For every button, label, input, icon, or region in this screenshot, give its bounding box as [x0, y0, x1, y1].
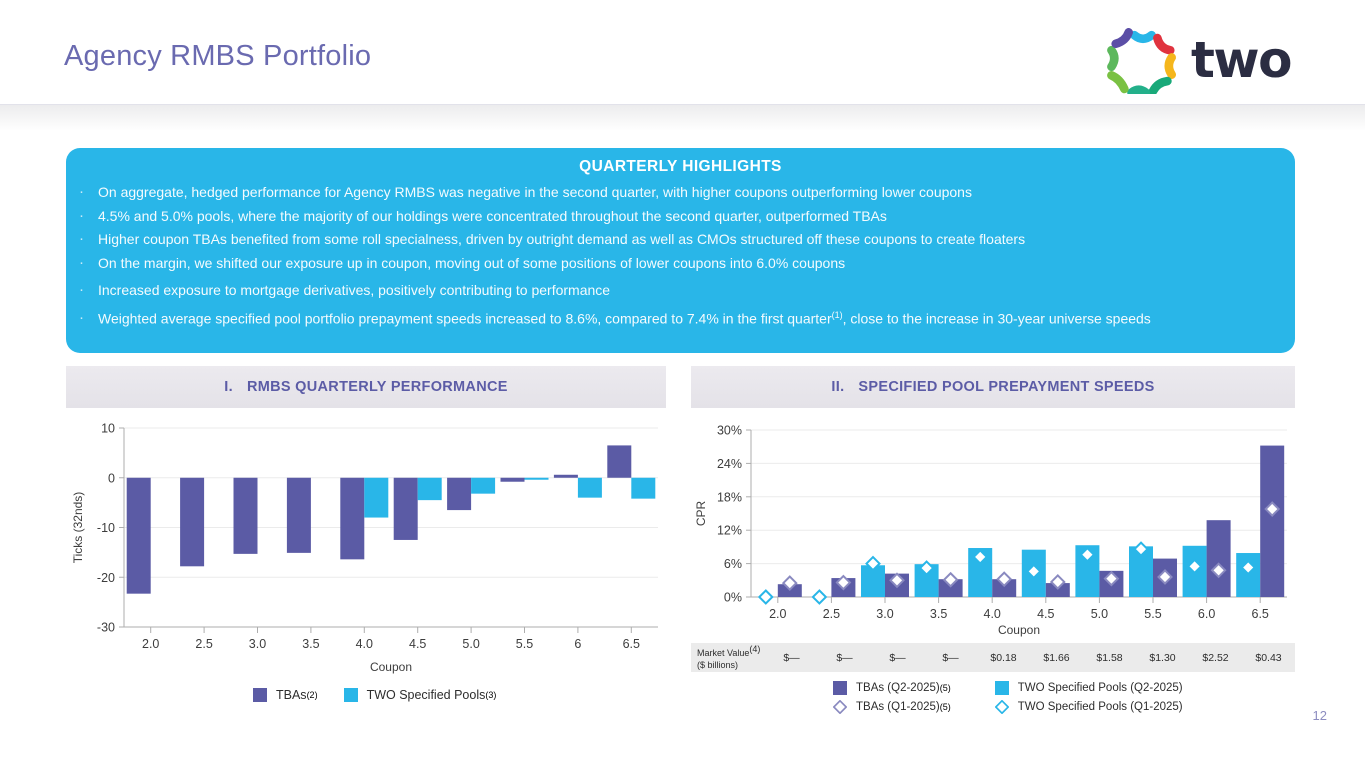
legend-swatch-icon — [344, 688, 358, 702]
highlight-text: On the margin, we shifted our exposure u… — [98, 255, 845, 271]
panel-left-title: RMBS QUARTERLY PERFORMANCE — [247, 379, 508, 395]
market-value-label: Market Value(4) ($ billions) — [691, 644, 765, 671]
x-tick-label: 2.0 — [142, 637, 159, 651]
diamond-two-specified-pools-q1-2025 — [759, 591, 772, 604]
highlight-text-cont: , close to the increase in 30-year unive… — [843, 310, 1151, 326]
x-tick-label: 2.0 — [769, 607, 786, 621]
legend-swatch-icon — [833, 681, 847, 695]
x-tick-label: 3.5 — [930, 607, 947, 621]
x-tick-label: 3.0 — [249, 637, 266, 651]
market-value-cell: $0.43 — [1242, 652, 1295, 664]
market-value-table: Market Value(4) ($ billions) $—$—$—$—$0.… — [691, 643, 1295, 672]
legend-footnote-ref: (5) — [940, 683, 951, 693]
market-value-label-line2: ($ billions) — [697, 660, 738, 670]
market-value-label-line1: Market Value — [697, 648, 749, 658]
highlights-title: QUARTERLY HIGHLIGHTS — [66, 148, 1295, 176]
market-value-cells: $—$—$—$—$0.18$1.66$1.58$1.30$2.52$0.43 — [765, 652, 1295, 664]
market-value-cell: $0.18 — [977, 652, 1030, 664]
market-value-cell: $1.30 — [1136, 652, 1189, 664]
y-tick-label: -10 — [97, 521, 115, 535]
highlight-bullet-icon: · — [79, 230, 84, 249]
x-tick-label: 4.0 — [984, 607, 1001, 621]
panel-right-number: II. — [831, 379, 844, 395]
bar-two-specified-pools — [578, 478, 602, 498]
highlight-footnote-ref: (1) — [832, 310, 843, 320]
legend-item: TWO Specified Pools(3) — [344, 688, 497, 702]
market-value-cell: $— — [924, 652, 977, 664]
legend-label: TBAs (Q2-2025) — [856, 682, 940, 694]
x-tick-label: 5.5 — [516, 637, 533, 651]
diamond-two-specified-pools-q1-2025 — [813, 591, 826, 604]
bar-tbas-q2-2025 — [1207, 520, 1231, 597]
x-axis-title: Coupon — [998, 623, 1040, 637]
x-tick-label: 4.5 — [1037, 607, 1054, 621]
legend-item: TBAs (Q2-2025)(5) — [833, 681, 951, 695]
x-tick-label: 2.5 — [195, 637, 212, 651]
y-tick-label: 0% — [724, 591, 742, 605]
y-tick-label: 6% — [724, 557, 742, 571]
legend-label: TWO Specified Pools (Q1-2025) — [1018, 701, 1183, 713]
y-tick-label: 18% — [717, 490, 742, 504]
bar-two-specified-pools — [525, 478, 549, 480]
x-tick-label: 4.0 — [356, 637, 373, 651]
legend-rmbs-performance: TBAs(2)TWO Specified Pools(3) — [253, 688, 522, 702]
legend-diamond-icon — [833, 700, 847, 714]
panel-left-number: I. — [224, 379, 233, 395]
highlight-bullet-icon: · — [79, 183, 84, 202]
legend-diamond-icon — [995, 700, 1009, 714]
x-tick-label: 5.5 — [1144, 607, 1161, 621]
legend-swatch-icon — [253, 688, 267, 702]
market-value-cell: $— — [818, 652, 871, 664]
market-value-cell: $1.58 — [1083, 652, 1136, 664]
x-tick-label: 6 — [574, 637, 581, 651]
highlight-text: Higher coupon TBAs benefited from some r… — [98, 231, 1025, 247]
legend-label: TWO Specified Pools (Q2-2025) — [1018, 682, 1183, 694]
bar-two-specified-pools — [471, 478, 495, 494]
legend-label: TWO Specified Pools — [367, 688, 486, 702]
bar-tbas — [554, 475, 578, 478]
bar-tbas — [234, 478, 258, 554]
page-number: 12 — [1313, 708, 1327, 723]
legend-footnote-ref: (3) — [485, 690, 496, 700]
x-tick-label: 3.5 — [302, 637, 319, 651]
logo-wordmark: two — [1191, 31, 1291, 89]
bar-tbas — [127, 478, 151, 594]
legend-swatch-icon — [995, 681, 1009, 695]
highlight-text: Increased exposure to mortgage derivativ… — [98, 282, 610, 298]
panel-header-prepayment-speeds: II. SPECIFIED POOL PREPAYMENT SPEEDS — [691, 366, 1295, 408]
y-tick-label: -20 — [97, 571, 115, 585]
bar-tbas — [180, 478, 204, 567]
highlight-bullet-icon: · — [79, 207, 84, 226]
x-tick-label: 5.0 — [462, 637, 479, 651]
highlight-item: ·Higher coupon TBAs benefited from some … — [66, 231, 1295, 249]
y-tick-label: 12% — [717, 524, 742, 538]
panel-right-title: SPECIFIED POOL PREPAYMENT SPEEDS — [858, 379, 1154, 395]
bar-two-specified-pools — [418, 478, 442, 500]
legend-label: TBAs (Q1-2025) — [856, 701, 940, 713]
bar-tbas-q2-2025 — [1260, 446, 1284, 597]
highlight-text: On aggregate, hedged performance for Age… — [98, 184, 972, 200]
highlight-text: 4.5% and 5.0% pools, where the majority … — [98, 208, 887, 224]
x-tick-label: 5.0 — [1091, 607, 1108, 621]
y-tick-label: 0 — [108, 471, 115, 485]
legend-footnote-ref: (5) — [940, 702, 951, 712]
chart-specified-pool-prepayment-speeds: 0%6%12%18%24%30%2.02.53.03.54.04.55.05.5… — [691, 420, 1295, 645]
bar-tbas — [607, 445, 631, 477]
x-axis-title: Coupon — [370, 660, 412, 674]
x-tick-label: 6.0 — [1198, 607, 1215, 621]
legend-prepayment-row1: TBAs (Q2-2025)(5)TWO Specified Pools (Q2… — [833, 681, 1183, 695]
highlight-item: ·Weighted average specified pool portfol… — [66, 310, 1295, 328]
header-gradient — [0, 105, 1365, 131]
y-tick-label: 24% — [717, 457, 742, 471]
y-axis-title: CPR — [694, 501, 708, 527]
panel-header-rmbs-performance: I. RMBS QUARTERLY PERFORMANCE — [66, 366, 666, 408]
x-tick-label: 6.5 — [1252, 607, 1269, 621]
highlight-item: ·4.5% and 5.0% pools, where the majority… — [66, 208, 1295, 226]
market-value-cell: $2.52 — [1189, 652, 1242, 664]
page-title: Agency RMBS Portfolio — [64, 40, 371, 73]
legend-item: TBAs (Q1-2025)(5) — [833, 700, 951, 714]
slide-header: Agency RMBS Portfolio two — [0, 0, 1365, 105]
highlight-bullet-icon: · — [79, 281, 84, 300]
bar-tbas — [447, 478, 471, 510]
y-tick-label: -30 — [97, 621, 115, 635]
highlight-item: ·On the margin, we shifted our exposure … — [66, 255, 1295, 273]
chart-rmbs-quarterly-performance: 100-10-20-302.02.53.03.54.04.55.05.566.5… — [66, 414, 666, 674]
bar-two-specified-pools — [631, 478, 655, 499]
quarterly-highlights-panel: QUARTERLY HIGHLIGHTS ·On aggregate, hedg… — [66, 148, 1295, 353]
highlights-list: ·On aggregate, hedged performance for Ag… — [66, 184, 1295, 328]
highlight-bullet-icon: · — [79, 254, 84, 273]
bar-tbas — [287, 478, 311, 553]
y-tick-label: 10 — [101, 422, 115, 436]
two-logo-mark-icon — [1107, 28, 1179, 94]
legend-footnote-ref: (2) — [307, 690, 318, 700]
market-value-label-sup: (4) — [749, 644, 760, 654]
highlight-item: ·Increased exposure to mortgage derivati… — [66, 282, 1295, 300]
market-value-cell: $— — [765, 652, 818, 664]
brand-logo: two — [1107, 25, 1297, 97]
legend-item: TWO Specified Pools (Q1-2025) — [995, 700, 1183, 714]
legend-item: TWO Specified Pools (Q2-2025) — [995, 681, 1183, 695]
highlight-item: ·On aggregate, hedged performance for Ag… — [66, 184, 1295, 202]
y-tick-label: 30% — [717, 424, 742, 438]
market-value-cell: $— — [871, 652, 924, 664]
market-value-cell: $1.66 — [1030, 652, 1083, 664]
x-tick-label: 4.5 — [409, 637, 426, 651]
legend-label: TBAs — [276, 688, 307, 702]
bar-tbas — [340, 478, 364, 560]
bar-tbas — [501, 478, 525, 482]
legend-item: TBAs(2) — [253, 688, 318, 702]
highlight-text: Weighted average specified pool portfoli… — [98, 310, 832, 326]
bar-two-specified-pools — [364, 478, 388, 518]
y-axis-title: Ticks (32nds) — [71, 492, 85, 564]
x-tick-label: 3.0 — [876, 607, 893, 621]
x-tick-label: 6.5 — [623, 637, 640, 651]
bar-tbas — [394, 478, 418, 540]
highlight-bullet-icon: · — [79, 309, 84, 328]
x-tick-label: 2.5 — [823, 607, 840, 621]
legend-prepayment-row2: TBAs (Q1-2025)(5)TWO Specified Pools (Q1… — [833, 700, 1183, 714]
